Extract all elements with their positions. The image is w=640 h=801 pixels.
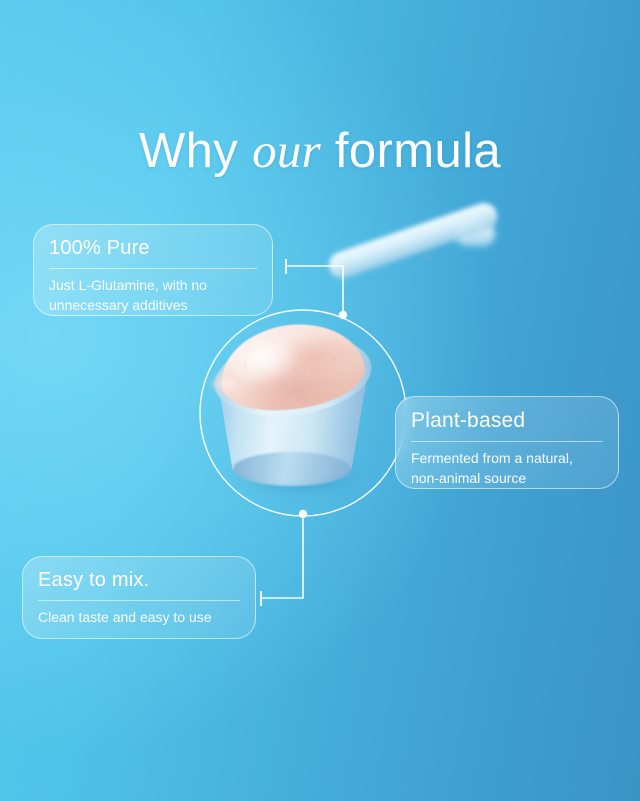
feature-card-title: 100% Pure	[49, 236, 257, 260]
connector-dot-easy	[299, 510, 307, 518]
feature-card-body: Clean taste and easy to use	[38, 608, 240, 628]
feature-card-divider	[38, 600, 240, 601]
feature-card-body: Fermented from a natural, non-animal sou…	[411, 449, 603, 489]
feature-card-divider	[411, 441, 603, 442]
feature-card-easy-to-mix[interactable]: Easy to mix. Clean taste and easy to use	[22, 556, 256, 639]
page-title-tail: formula	[321, 124, 501, 178]
feature-card-divider	[49, 268, 257, 269]
connector-dot-pure	[339, 311, 347, 319]
feature-card-title: Easy to mix.	[38, 568, 240, 592]
page-title-emphasis: our	[252, 123, 321, 178]
product-feature-poster: Why our formula 100% Pure Just L-Glutami…	[0, 0, 640, 801]
feature-card-plant-based[interactable]: Plant-based Fermented from a natural, no…	[395, 396, 619, 489]
feature-card-pure[interactable]: 100% Pure Just L-Glutamine, with no unne…	[33, 224, 273, 316]
page-title-lead: Why	[139, 124, 252, 178]
connector-easy	[261, 514, 303, 606]
page-title: Why our formula	[0, 125, 640, 178]
feature-card-body: Just L-Glutamine, with no unnecessary ad…	[49, 276, 257, 316]
feature-card-title: Plant-based	[411, 408, 603, 433]
connector-pure	[286, 259, 343, 315]
product-highlight-circle	[200, 310, 406, 516]
